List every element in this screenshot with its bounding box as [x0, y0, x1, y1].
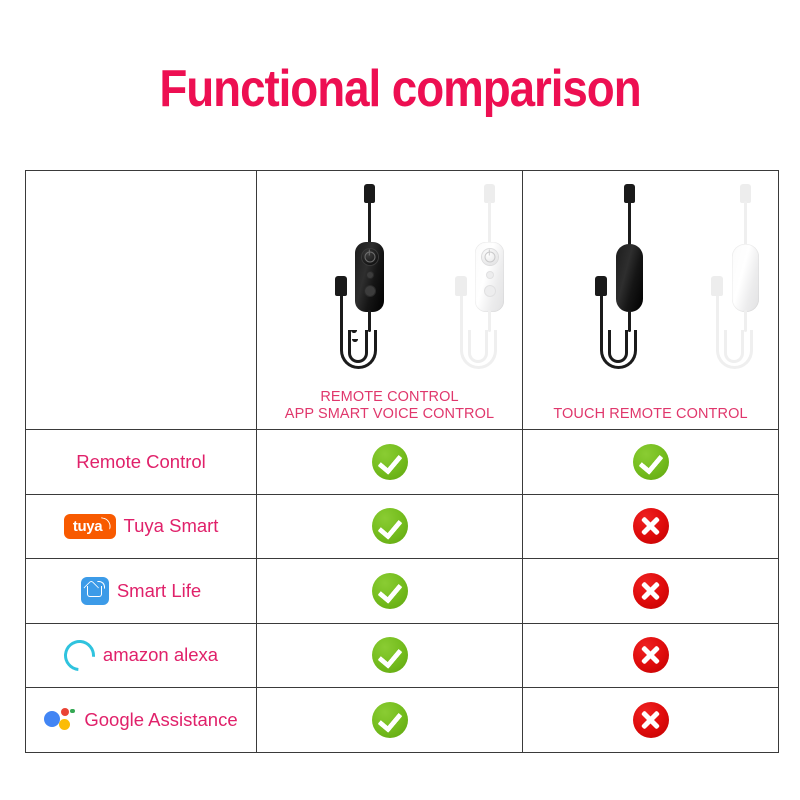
alexa-ring-icon	[58, 633, 102, 677]
google-assistant-dots-icon	[44, 706, 76, 734]
functional-comparison-table: REMOTE CONTROL APP SMART VOICE CONTROL	[25, 170, 779, 753]
caption-line-1: TOUCH REMOTE CONTROL	[523, 406, 778, 423]
cell-remote-control-app-remote-control	[257, 430, 523, 495]
row-label-cell-tuya-smart: tuya Tuya Smart	[26, 494, 257, 559]
device-black-with-buttons	[315, 184, 427, 374]
wifi-arc-icon	[99, 517, 111, 529]
cell-remote-control-app-smart-life	[257, 559, 523, 624]
row-label-cell-google-assistance: Google Assistance	[26, 688, 257, 753]
cell-remote-control-app-google-assistance	[257, 688, 523, 753]
google-dot-red	[61, 708, 69, 716]
cell-touch-remote-control-tuya-smart	[523, 494, 779, 559]
check-icon	[372, 637, 408, 673]
row-label-cell-smart-life: Smart Life	[26, 559, 257, 624]
check-icon	[372, 508, 408, 544]
product-image-touch-remote-control	[523, 171, 778, 376]
row-label-text: Smart Life	[117, 580, 201, 602]
header-cell-touch-remote-control: TOUCH REMOTE CONTROL	[523, 171, 779, 430]
header-cell-empty	[26, 171, 257, 430]
smart-life-house-icon	[81, 577, 109, 605]
tuya-logo-icon: tuya	[64, 514, 116, 539]
column-caption-remote-control-app: REMOTE CONTROL APP SMART VOICE CONTROL	[257, 389, 522, 423]
device-black-plain	[575, 184, 687, 374]
cell-touch-remote-control-google-assistance	[523, 688, 779, 753]
caption-line-1: REMOTE CONTROL	[257, 389, 522, 406]
check-icon	[633, 444, 669, 480]
table-header-row: REMOTE CONTROL APP SMART VOICE CONTROL	[26, 171, 779, 430]
row-label-cell-amazon-alexa: amazon alexa	[26, 623, 257, 688]
cell-touch-remote-control-smart-life	[523, 559, 779, 624]
cross-icon	[633, 508, 669, 544]
table-row: Remote Control	[26, 430, 779, 495]
row-label-text: Tuya Smart	[124, 515, 219, 537]
google-dot-green	[70, 709, 75, 714]
row-label-cell-remote-control: Remote Control	[26, 430, 257, 495]
cross-icon	[633, 637, 669, 673]
header-cell-remote-control-app: REMOTE CONTROL APP SMART VOICE CONTROL	[257, 171, 523, 430]
check-icon	[372, 573, 408, 609]
column-caption-touch-remote-control: TOUCH REMOTE CONTROL	[523, 406, 778, 423]
cross-icon	[633, 573, 669, 609]
caption-line-2: APP SMART VOICE CONTROL	[257, 406, 522, 423]
wifi-arc-icon	[97, 581, 105, 589]
page-title: Functional comparison	[48, 62, 752, 117]
table-row: Smart Life	[26, 559, 779, 624]
device-white-plain	[691, 184, 800, 374]
table-row: Google Assistance	[26, 688, 779, 753]
table-row: tuya Tuya Smart	[26, 494, 779, 559]
row-label-text: Google Assistance	[84, 709, 237, 731]
cross-icon	[633, 702, 669, 738]
check-icon	[372, 444, 408, 480]
table-row: amazon alexa	[26, 623, 779, 688]
check-icon	[372, 702, 408, 738]
cell-remote-control-app-amazon-alexa	[257, 623, 523, 688]
product-image-remote-control-app	[257, 171, 522, 376]
cell-touch-remote-control-remote-control	[523, 430, 779, 495]
cell-remote-control-app-tuya-smart	[257, 494, 523, 559]
google-dot-blue	[44, 711, 60, 727]
row-label-text: amazon alexa	[103, 644, 218, 666]
cell-touch-remote-control-amazon-alexa	[523, 623, 779, 688]
row-label-text: Remote Control	[76, 451, 206, 473]
google-dot-yellow	[59, 719, 70, 730]
